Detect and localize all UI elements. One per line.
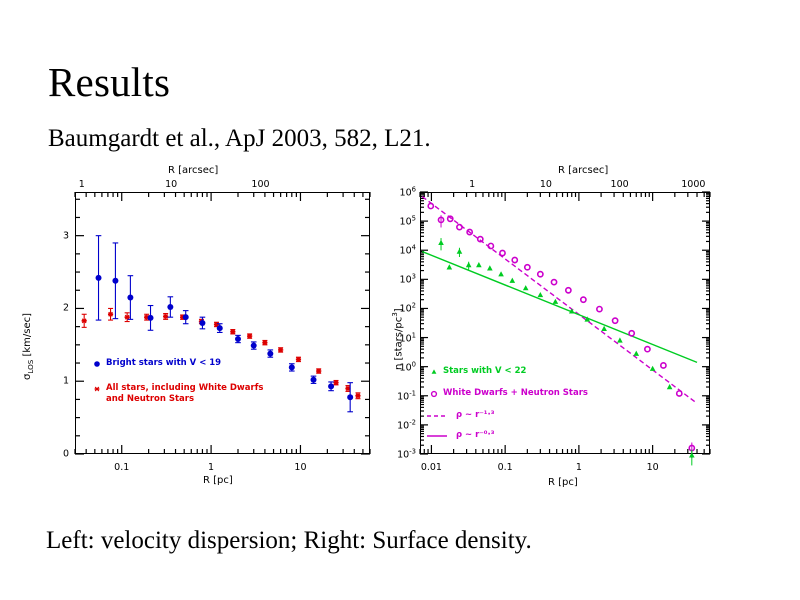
- left-plot-top-xtick-100: 100: [251, 179, 269, 190]
- right-plot-point-stars: [447, 264, 453, 269]
- right-plot-xtick-1: 1: [576, 462, 582, 473]
- left-plot-ytick-2: 2: [45, 303, 69, 314]
- right-plot-top-xtick-100: 100: [611, 179, 629, 190]
- right-plot-point-wd-ns: [581, 297, 586, 302]
- left-plot-top-xtick-1: 1: [79, 179, 85, 190]
- right-plot-point-wd-ns: [488, 243, 493, 248]
- right-plot-ytick-1e3: 103: [386, 273, 416, 286]
- right-plot-point-stars: [689, 452, 695, 457]
- right-plot-point-stars: [633, 351, 639, 356]
- right-plot-point-wd-ns: [448, 216, 453, 221]
- right-plot-point-stars: [650, 366, 656, 371]
- left-plot-y-axis-title: σLOS [km/sec]: [22, 313, 35, 380]
- right-plot-point-wd-ns: [457, 225, 462, 230]
- left-plot-legend-all-stars: All stars, including White Dwarfsand Neu…: [106, 383, 263, 405]
- right-plot-point-wd-ns: [428, 203, 433, 208]
- left-plot-point-bright-stars: [148, 315, 154, 321]
- right-plot-ytick-1e5: 105: [386, 215, 416, 228]
- right-plot-xtick-0.01: 0.01: [421, 462, 442, 473]
- right-plot-ytick-1e6: 106: [386, 185, 416, 198]
- right-plot-ytick-1e2: 102: [386, 302, 416, 315]
- right-plot-point-wd-ns: [551, 280, 556, 285]
- left-plot-point-bright-stars: [112, 278, 118, 284]
- left-plot-point-bright-stars: [347, 394, 353, 400]
- right-plot-point-wd-ns: [566, 288, 571, 293]
- right-plot-point-stars: [498, 271, 504, 276]
- left-plot-canvas: [0, 165, 390, 515]
- page-title: Results: [48, 62, 170, 103]
- slide-root: Results Baumgardt et al., ApJ 2003, 582,…: [0, 0, 800, 600]
- right-plot-xtick-10: 10: [647, 462, 659, 473]
- right-plot-point-wd-ns: [478, 237, 483, 242]
- right-plot-ytick-1e-1: 10-1: [386, 389, 416, 402]
- slide-caption: Left: velocity dispersion; Right: Surfac…: [46, 528, 532, 553]
- left-plot-point-bright-stars: [183, 314, 189, 320]
- right-plot-point-wd-ns: [629, 331, 634, 336]
- right-plot-xtick-0.1: 0.1: [498, 462, 513, 473]
- velocity-dispersion-plot: R [arcsec] R [pc] σLOS [km/sec] 0.111011…: [0, 165, 390, 515]
- right-plot-point-wd-ns: [500, 250, 505, 255]
- right-plot-point-wd-ns: [613, 318, 618, 323]
- right-plot-point-wd-ns: [597, 306, 602, 311]
- right-plot-fitline-1: [422, 252, 697, 363]
- left-plot-ytick-3: 3: [45, 230, 69, 241]
- right-plot-legend-wd-ns: White Dwarfs + Neutron Stars: [443, 388, 588, 398]
- right-plot-point-stars: [466, 262, 472, 267]
- right-plot-top-xtick-10: 10: [540, 179, 552, 190]
- left-plot-point-bright-stars: [199, 320, 205, 326]
- right-plot-ytick-1e-2: 10-2: [386, 418, 416, 431]
- right-plot-point-stars: [457, 249, 463, 254]
- right-plot-point-stars: [601, 326, 607, 331]
- left-plot-point-bright-stars: [235, 336, 241, 342]
- right-plot-point-stars: [523, 285, 529, 290]
- left-plot-ytick-1: 1: [45, 376, 69, 387]
- right-plot-ytick-1e1: 101: [386, 331, 416, 344]
- left-plot-point-bright-stars: [217, 325, 223, 331]
- surface-density-plot: R [arcsec] R [pc] n [stars/pc3] 0.010.11…: [378, 165, 800, 515]
- citation-line: Baumgardt et al., ApJ 2003, 582, L21.: [48, 126, 431, 151]
- right-plot-point-stars: [553, 299, 559, 304]
- right-plot-ytick-1e4: 104: [386, 244, 416, 257]
- right-plot-legend-stars: Stars with V < 22: [443, 366, 526, 376]
- right-plot-x-axis-title: R [pc]: [548, 477, 578, 488]
- left-plot-x-axis-title: R [pc]: [203, 475, 233, 486]
- right-plot-ytick-1e0: 100: [386, 360, 416, 373]
- left-plot-ytick-0: 0: [45, 449, 69, 460]
- right-plot-top-xtick-1000: 1000: [681, 179, 705, 190]
- right-plot-legend-fit-03: ρ ~ r⁻⁰·³: [456, 430, 494, 440]
- right-plot-point-stars: [510, 278, 516, 283]
- left-plot-point-bright-stars: [311, 377, 317, 383]
- left-plot-point-bright-stars: [328, 383, 334, 389]
- right-plot-point-wd-ns: [661, 363, 666, 368]
- right-plot-point-wd-ns: [677, 391, 682, 396]
- right-plot-legend-fit-13: ρ ~ r⁻¹·³: [456, 410, 494, 420]
- left-plot-point-bright-stars: [289, 364, 295, 370]
- right-plot-point-stars: [476, 262, 482, 267]
- left-plot-xtick-10: 10: [294, 462, 306, 473]
- left-plot-point-bright-stars: [267, 351, 273, 357]
- right-plot-point-wd-ns: [538, 272, 543, 277]
- right-plot-point-stars: [617, 337, 623, 342]
- left-plot-point-bright-stars: [127, 295, 133, 301]
- left-plot-point-bright-stars: [167, 304, 173, 310]
- left-plot-xtick-1: 1: [208, 462, 214, 473]
- left-plot-legend-bright-stars: Bright stars with V < 19: [106, 358, 221, 368]
- right-plot-point-stars: [487, 265, 493, 270]
- right-plot-top-xtick-1: 1: [469, 179, 475, 190]
- right-plot-point-wd-ns: [512, 257, 517, 262]
- left-plot-xtick-0.1: 0.1: [114, 462, 129, 473]
- right-plot-point-wd-ns: [645, 347, 650, 352]
- left-plot-top-xtick-10: 10: [165, 179, 177, 190]
- left-plot-point-bright-stars: [251, 343, 257, 349]
- right-plot-point-wd-ns: [525, 265, 530, 270]
- right-plot-point-stars: [438, 240, 444, 245]
- right-plot-ytick-1e-3: 10-3: [386, 447, 416, 460]
- left-plot-point-bright-stars: [96, 275, 102, 281]
- right-plot-point-stars: [538, 292, 544, 297]
